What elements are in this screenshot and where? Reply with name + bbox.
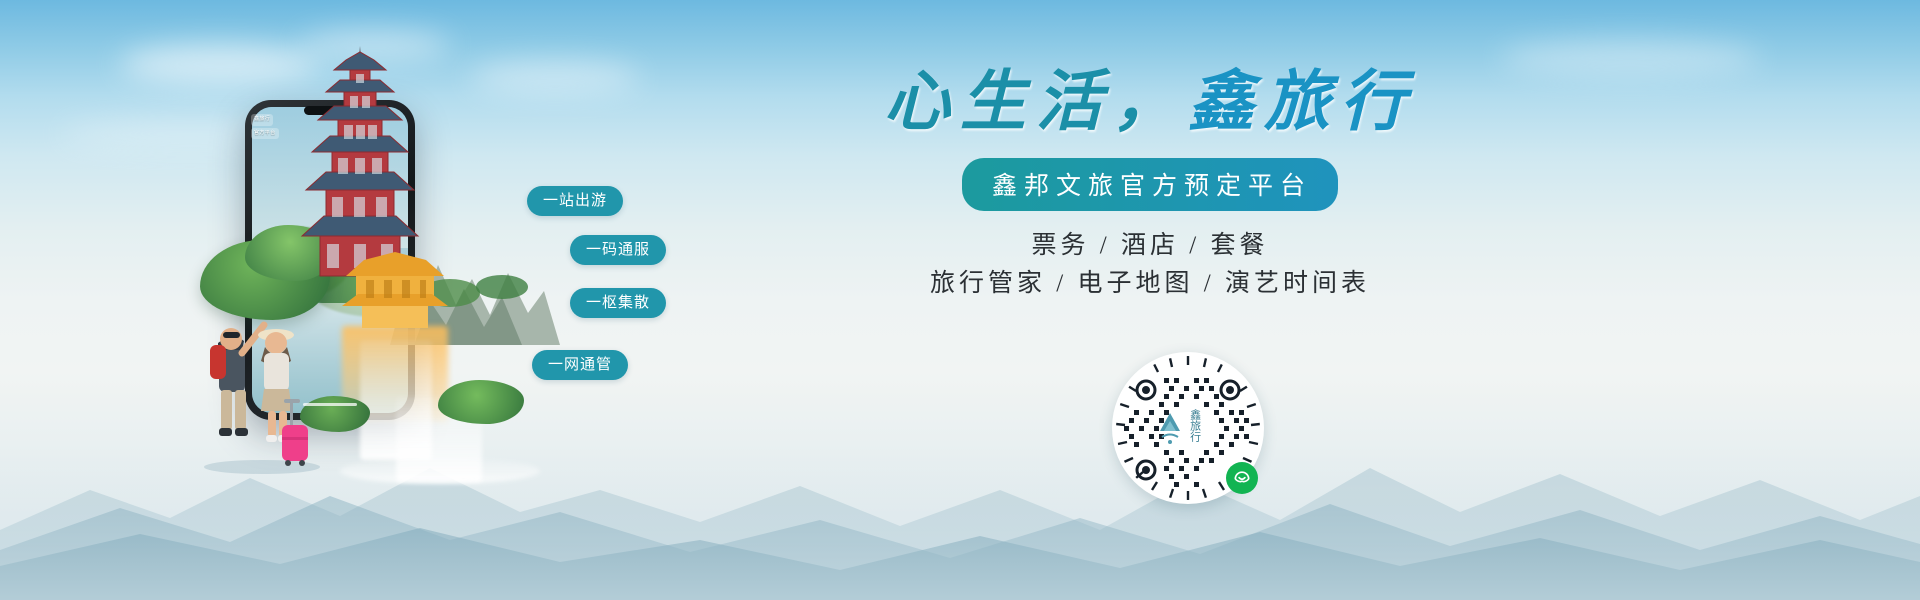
- wechat-miniprogram-icon: [1226, 462, 1258, 494]
- qr-center-logo: 鑫旅行: [1156, 405, 1220, 451]
- feature-pill-2-label: 一码通服: [586, 241, 650, 258]
- headline: 心生活，鑫旅行: [800, 70, 1500, 136]
- platform-badge-label: 鑫邦文旅官方预定平台: [992, 172, 1312, 200]
- service-line-2: 旅行管家 / 电子地图 / 演艺时间表: [800, 265, 1500, 303]
- cloud-wisp: [1500, 40, 1760, 76]
- golden-temple-illustration: [340, 250, 450, 330]
- promo-text-block: 心生活，鑫旅行 鑫邦文旅官方预定平台 票务 / 酒店 / 套餐 旅行管家 / 电…: [800, 70, 1500, 302]
- feature-pill-1-label: 一站出游: [543, 192, 607, 209]
- mountain-logo-icon: [1156, 411, 1184, 445]
- phone-ui-line-2: 官方平台: [251, 128, 279, 140]
- feature-pill-4-label: 一网通管: [548, 356, 612, 373]
- feature-pill-3-label: 一枢集散: [586, 294, 650, 311]
- waterfall-pool-mist: [340, 458, 540, 484]
- feature-pill-4[interactable]: 一网通管: [532, 350, 628, 380]
- lower-foliage: [438, 380, 524, 424]
- traveller-couple-illustration: [190, 295, 340, 475]
- platform-badge: 鑫邦文旅官方预定平台: [962, 158, 1338, 211]
- promo-banner: 鑫旅行 官方平台: [0, 0, 1920, 600]
- feature-pill-2[interactable]: 一码通服: [570, 235, 666, 265]
- qr-code[interactable]: 鑫旅行: [1112, 352, 1264, 504]
- feature-pill-3[interactable]: 一枢集散: [570, 288, 666, 318]
- traveller-man: [210, 325, 264, 436]
- service-line-1: 票务 / 酒店 / 套餐: [800, 227, 1500, 265]
- qr-brand-text: 鑫旅行: [1188, 409, 1201, 447]
- feature-pill-1[interactable]: 一站出游: [527, 186, 623, 216]
- phone-ui-line-1: 鑫旅行: [251, 114, 273, 126]
- headline-part-2: 鑫旅行: [1188, 66, 1416, 139]
- headline-part-1: 心生活，: [884, 66, 1188, 139]
- service-list: 票务 / 酒店 / 套餐 旅行管家 / 电子地图 / 演艺时间表: [800, 227, 1500, 302]
- miniprogram-glyph: [1232, 468, 1252, 488]
